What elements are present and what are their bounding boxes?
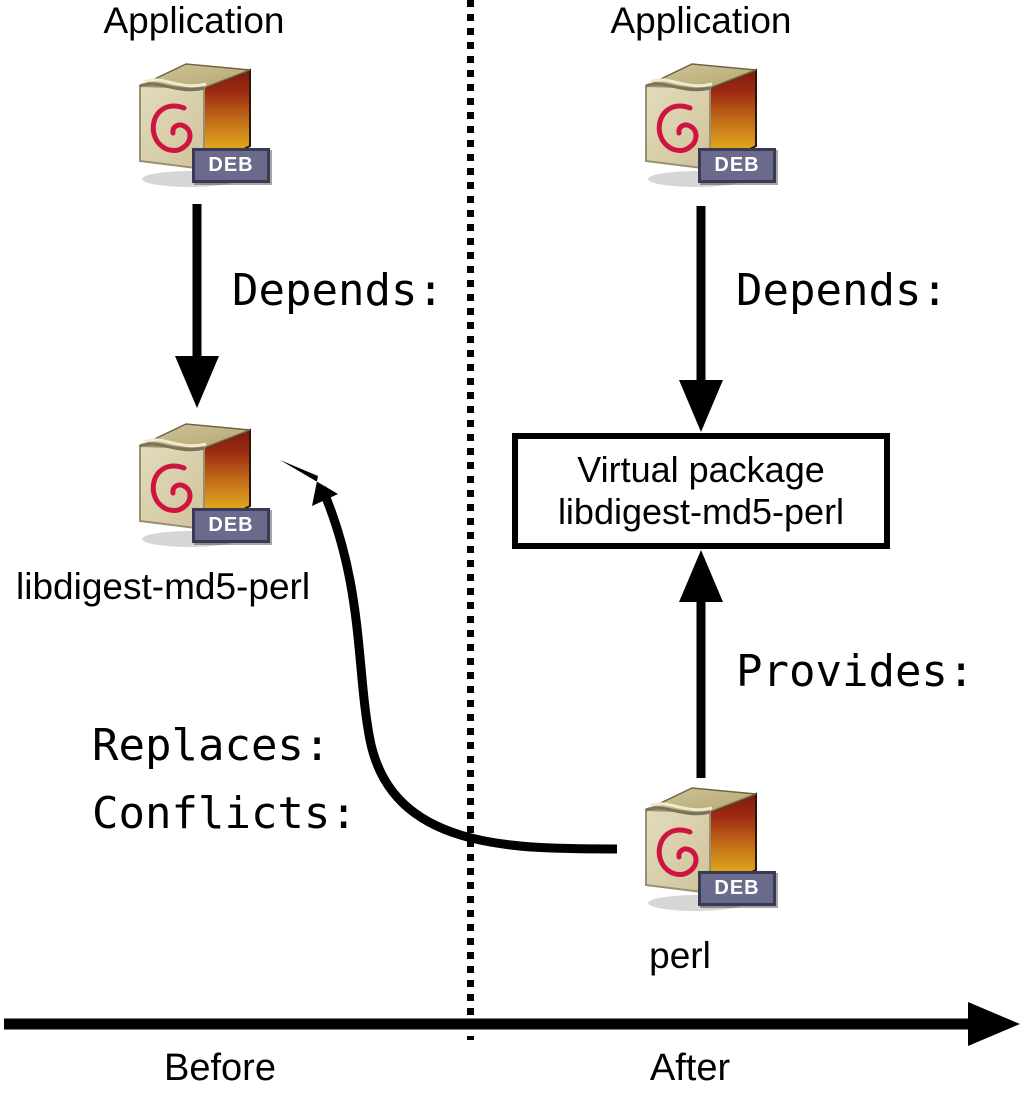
- timeline-label-after: After: [570, 1047, 810, 1090]
- timeline-axis-arrow: [0, 1000, 1024, 1048]
- deb-badge: DEB: [192, 508, 270, 543]
- depends-label-after: Depends:: [736, 267, 948, 315]
- virtual-package-line2: libdigest-md5-perl: [558, 491, 844, 533]
- virtual-package-line1: Virtual package: [577, 449, 825, 491]
- deb-badge: DEB: [192, 148, 270, 183]
- provides-arrow: [672, 548, 732, 780]
- deb-badge: DEB: [698, 871, 776, 906]
- perl-label: perl: [600, 937, 760, 976]
- provides-label: Provides:: [736, 648, 974, 696]
- depends-arrow-before: [168, 200, 228, 412]
- application-label-after: Application: [595, 2, 807, 41]
- deb-badge-text: DEB: [714, 154, 759, 177]
- diagram-canvas: Application: [0, 0, 1024, 1094]
- deb-badge-text: DEB: [208, 154, 253, 177]
- depends-label-before: Depends:: [232, 267, 444, 315]
- deb-badge-text: DEB: [714, 877, 759, 900]
- timeline-label-before: Before: [100, 1047, 340, 1090]
- virtual-package-box: Virtual package libdigest-md5-perl: [512, 433, 890, 549]
- deb-badge-text: DEB: [208, 514, 253, 537]
- depends-arrow-after: [672, 202, 732, 436]
- deb-badge: DEB: [698, 148, 776, 183]
- application-label-before: Application: [88, 2, 300, 41]
